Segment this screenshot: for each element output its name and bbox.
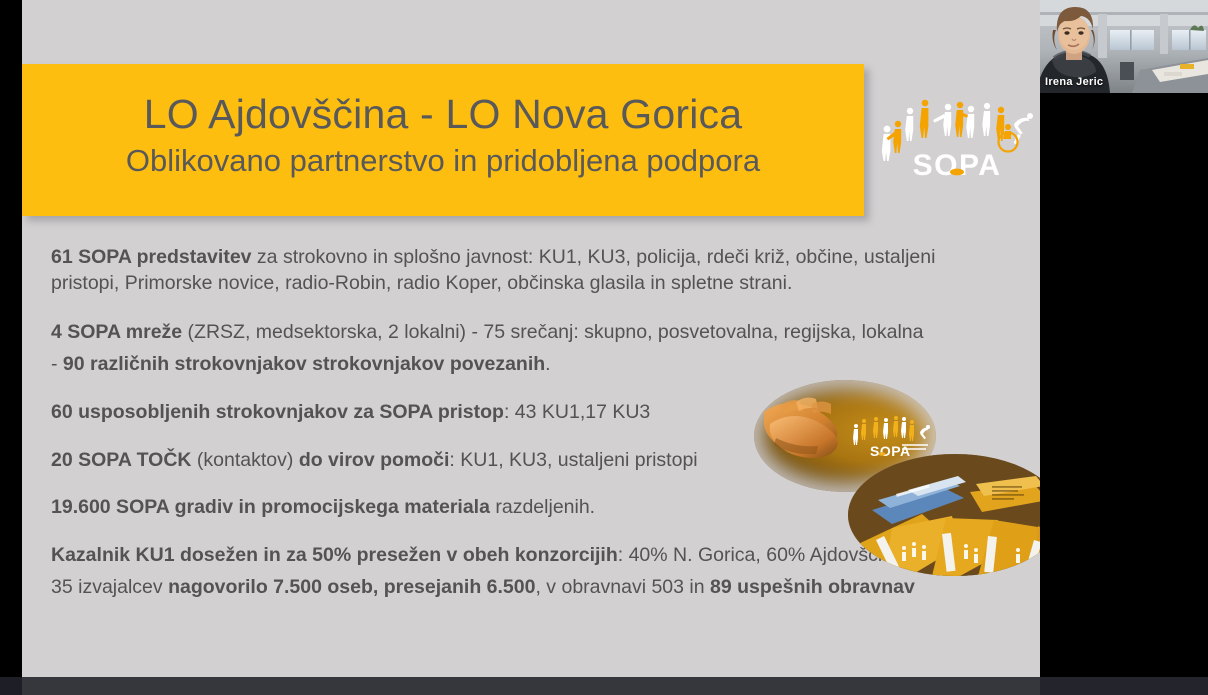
body-text-run: (kontaktov) [192,449,299,471]
body-text-run: : 40% N. Gorica, 60% Ajdovščina [618,544,904,566]
presentation-slide: LO Ajdovščina - LO Nova Gorica Oblikovan… [22,0,1040,677]
meeting-screen-share-view: LO Ajdovščina - LO Nova Gorica Oblikovan… [0,0,1208,695]
slide-title-band: LO Ajdovščina - LO Nova Gorica Oblikovan… [22,64,864,216]
bottom-bar-right-segment [1040,677,1208,695]
sopa-wordmark: SOPA [913,149,1002,181]
body-text-run: (ZRSZ, medsektorska, 2 lokalni) - 75 sre… [182,321,923,343]
para-kazalnik: Kazalnik KU1 dosežen in za 50% presežen … [51,543,999,569]
slide-title: LO Ajdovščina - LO Nova Gorica [22,92,864,138]
body-text-emphasis: do virov pomoči [299,449,450,471]
app-bottom-bar [0,677,1208,695]
bottom-bar-left-segment [0,677,22,695]
body-text-run: . [545,353,550,375]
body-text-emphasis: 61 SOPA predstavitev [51,246,252,268]
body-text-run: , v obravnavi 503 in [535,576,710,598]
para-predstavitve: 61 SOPA predstavitev za strokovno in spl… [51,245,999,296]
body-text-run: 35 izvajalcev [51,576,168,598]
body-text-emphasis: 20 SOPA TOČK [51,449,192,471]
para-usposobljeni: 60 usposobljenih strokovnjakov za SOPA p… [51,400,999,426]
para-mreze: 4 SOPA mreže (ZRSZ, medsektorska, 2 loka… [51,320,999,346]
participant-name-label: Irena Jeric [1045,76,1103,88]
para-gradiva: 19.600 SOPA gradiv in promocijskega mate… [51,495,999,521]
webcam-tile[interactable]: Irena Jeric [1040,0,1208,93]
body-text-run: : KU1, KU3, ustaljeni pristopi [449,449,697,471]
para-strokovnjaki-povezani: - 90 različnih strokovnjakov strokovnjak… [51,352,999,378]
body-text-emphasis: 90 različnih strokovnjakov strokovnjakov… [63,353,545,375]
body-text-emphasis: 4 SOPA mreže [51,321,182,343]
body-text-emphasis: 89 uspešnih obravnav [710,576,915,598]
body-text-emphasis: nagovorilo 7.500 oseb, presejanih 6.500 [168,576,535,598]
slide-body-text: 61 SOPA predstavitev za strokovno in spl… [51,245,999,617]
body-text-emphasis: 19.600 SOPA gradiv in promocijskega mate… [51,496,490,518]
body-text-run: : 43 KU1,17 KU3 [504,401,650,423]
body-text-run: razdeljenih. [490,496,595,518]
body-text-emphasis: Kazalnik KU1 dosežen in za 50% presežen … [51,544,618,566]
para-izvajalci: 35 izvajalcev nagovorilo 7.500 oseb, pre… [51,575,999,601]
body-text-run: - [51,353,63,375]
slide-subtitle: Oblikovano partnerstvo in pridobljena po… [22,143,864,179]
body-text-emphasis: 60 usposobljenih strokovnjakov za SOPA p… [51,401,504,423]
para-sopa-tock: 20 SOPA TOČK (kontaktov) do virov pomoči… [51,448,999,474]
sopa-logo: SOPA [875,96,1040,181]
